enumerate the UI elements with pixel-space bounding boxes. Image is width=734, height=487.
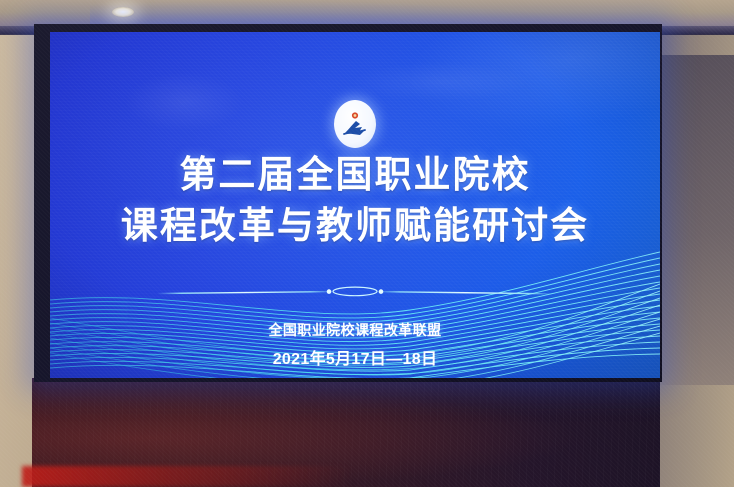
subtitle-dates: 2021年5月17日—18日 <box>50 345 660 369</box>
alliance-emblem-logo <box>334 100 376 148</box>
led-screen: 第二届全国职业院校 课程改革与教师赋能研讨会 <box>50 32 660 378</box>
screen-glare-left <box>124 72 244 132</box>
screen-glare-top <box>350 62 530 102</box>
conference-room-photo: 第二届全国职业院校 课程改革与教师赋能研讨会 <box>0 0 734 487</box>
screen-subtitle-block: 全国职业院校课程改革联盟 2021年5月17日—18日 <box>50 320 660 369</box>
ornamental-divider <box>155 284 555 300</box>
screen-title-block: 第二届全国职业院校 课程改革与教师赋能研讨会 <box>50 156 660 244</box>
bottom-red-light-strip <box>22 466 352 487</box>
subtitle-organizer: 全国职业院校课程改革联盟 <box>50 320 660 340</box>
title-line-2: 课程改革与教师赋能研讨会 <box>50 207 660 244</box>
title-line-1: 第二届全国职业院校 <box>50 156 660 193</box>
ceiling-spotlight <box>112 7 134 17</box>
